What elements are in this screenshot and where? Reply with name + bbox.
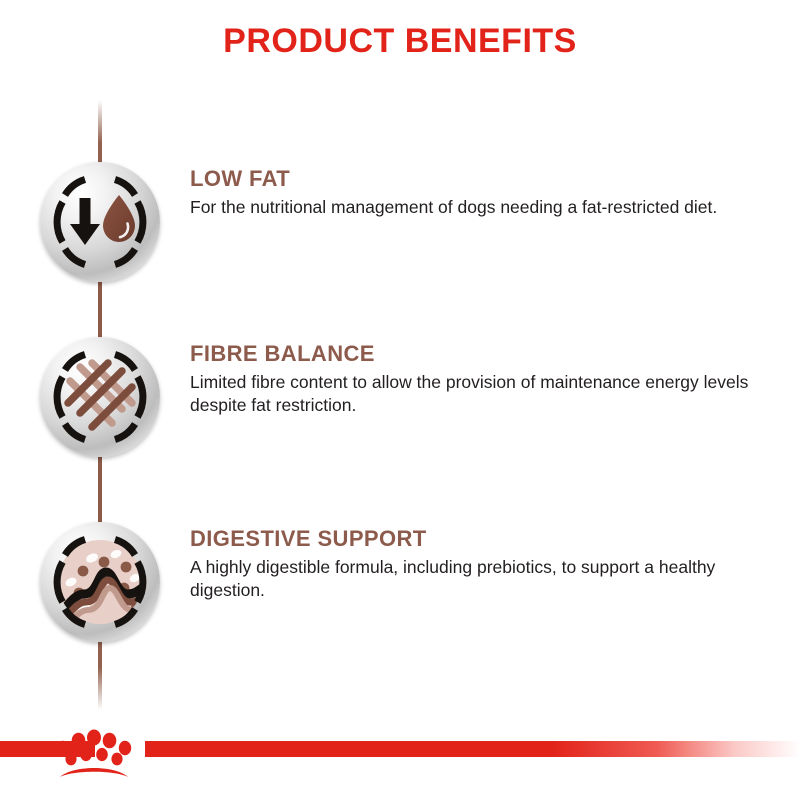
benefit-title: LOW FAT	[190, 166, 750, 192]
benefit-title: DIGESTIVE SUPPORT	[190, 526, 750, 552]
low-fat-icon	[40, 162, 160, 282]
fibre-balance-icon	[40, 337, 160, 457]
benefit-description: A highly digestible formula, including p…	[190, 556, 750, 603]
footer	[0, 710, 800, 800]
product-benefits-page: PRODUCT BENEFITS	[0, 0, 800, 800]
benefit-description: For the nutritional management of dogs n…	[190, 196, 750, 219]
royal-canin-crown-logo	[53, 728, 135, 780]
benefit-text-block: FIBRE BALANCE Limited fibre content to a…	[190, 341, 750, 418]
page-title: PRODUCT BENEFITS	[0, 22, 800, 61]
footer-rule-right	[145, 741, 800, 757]
benefit-title: FIBRE BALANCE	[190, 341, 750, 367]
benefit-text-block: LOW FAT For the nutritional management o…	[190, 166, 750, 219]
benefit-description: Limited fibre content to allow the provi…	[190, 371, 750, 418]
digestive-support-icon	[40, 522, 160, 642]
benefit-text-block: DIGESTIVE SUPPORT A highly digestible fo…	[190, 526, 750, 603]
